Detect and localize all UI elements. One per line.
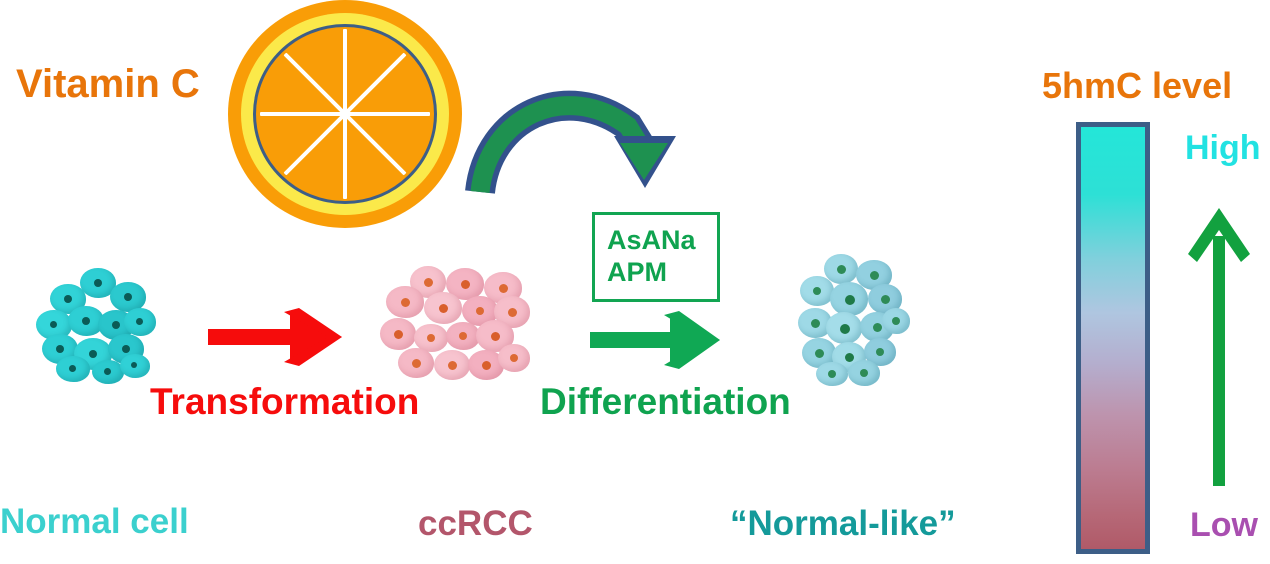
- treatment-line-2: APM: [607, 257, 717, 289]
- normal-like-cell-cluster: [798, 254, 910, 386]
- 5hmc-gradient-bar: [1076, 122, 1150, 554]
- up-arrow-icon: [1182, 196, 1262, 486]
- normal-cell-cluster: [36, 268, 156, 380]
- differentiation-label: Differentiation: [540, 383, 791, 420]
- transformation-label: Transformation: [150, 383, 419, 420]
- orange-flesh-circle: [253, 24, 437, 204]
- normal-like-label: “Normal-like”: [730, 506, 956, 541]
- right-arrow-icon: [204, 306, 350, 368]
- ccrcc-cell-cluster: [380, 266, 532, 382]
- ccrcc-label: ccRCC: [418, 506, 533, 541]
- diagram-canvas: Vitamin C AsANa APM: [0, 0, 1270, 564]
- normal-cell-label: Normal cell: [0, 504, 189, 539]
- right-arrow-icon: [586, 310, 728, 370]
- treatment-box: AsANa APM: [592, 212, 720, 302]
- scale-low-label: Low: [1190, 508, 1258, 542]
- scale-title-label: 5hmC level: [1042, 68, 1232, 104]
- vitamin-c-label: Vitamin C: [16, 64, 200, 104]
- curved-arrow-icon: [462, 52, 702, 222]
- treatment-line-1: AsANa: [607, 225, 717, 257]
- orange-slice-icon: [228, 0, 462, 228]
- scale-high-label: High: [1185, 131, 1261, 165]
